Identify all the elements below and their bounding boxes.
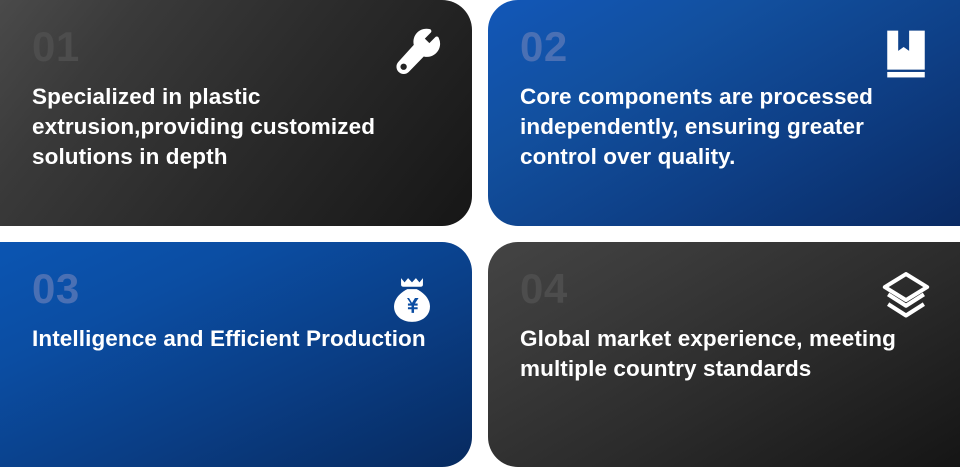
layers-stack-icon xyxy=(878,268,934,324)
money-bag-yen-icon xyxy=(384,272,440,328)
feature-card-04[interactable]: 04 Global market experience, meeting mul… xyxy=(488,242,960,467)
book-bookmark-icon xyxy=(878,26,934,82)
card-title-04: Global market experience, meeting multip… xyxy=(520,324,930,384)
card-title-03: Intelligence and Efficient Production xyxy=(32,324,442,354)
feature-card-01[interactable]: 01 Specialized in plastic extrusion,prov… xyxy=(0,0,472,226)
card-number-03: 03 xyxy=(32,268,442,310)
card-number-01: 01 xyxy=(32,26,442,68)
feature-card-02[interactable]: 02 Core components are processed indepen… xyxy=(488,0,960,226)
feature-card-grid: 01 Specialized in plastic extrusion,prov… xyxy=(0,0,960,459)
wrench-icon xyxy=(390,26,446,82)
card-title-02: Core components are processed independen… xyxy=(520,82,930,172)
feature-card-03[interactable]: 03 Intelligence and Efficient Production xyxy=(0,242,472,467)
card-number-04: 04 xyxy=(520,268,930,310)
card-title-01: Specialized in plastic extrusion,providi… xyxy=(32,82,442,172)
card-number-02: 02 xyxy=(520,26,930,68)
